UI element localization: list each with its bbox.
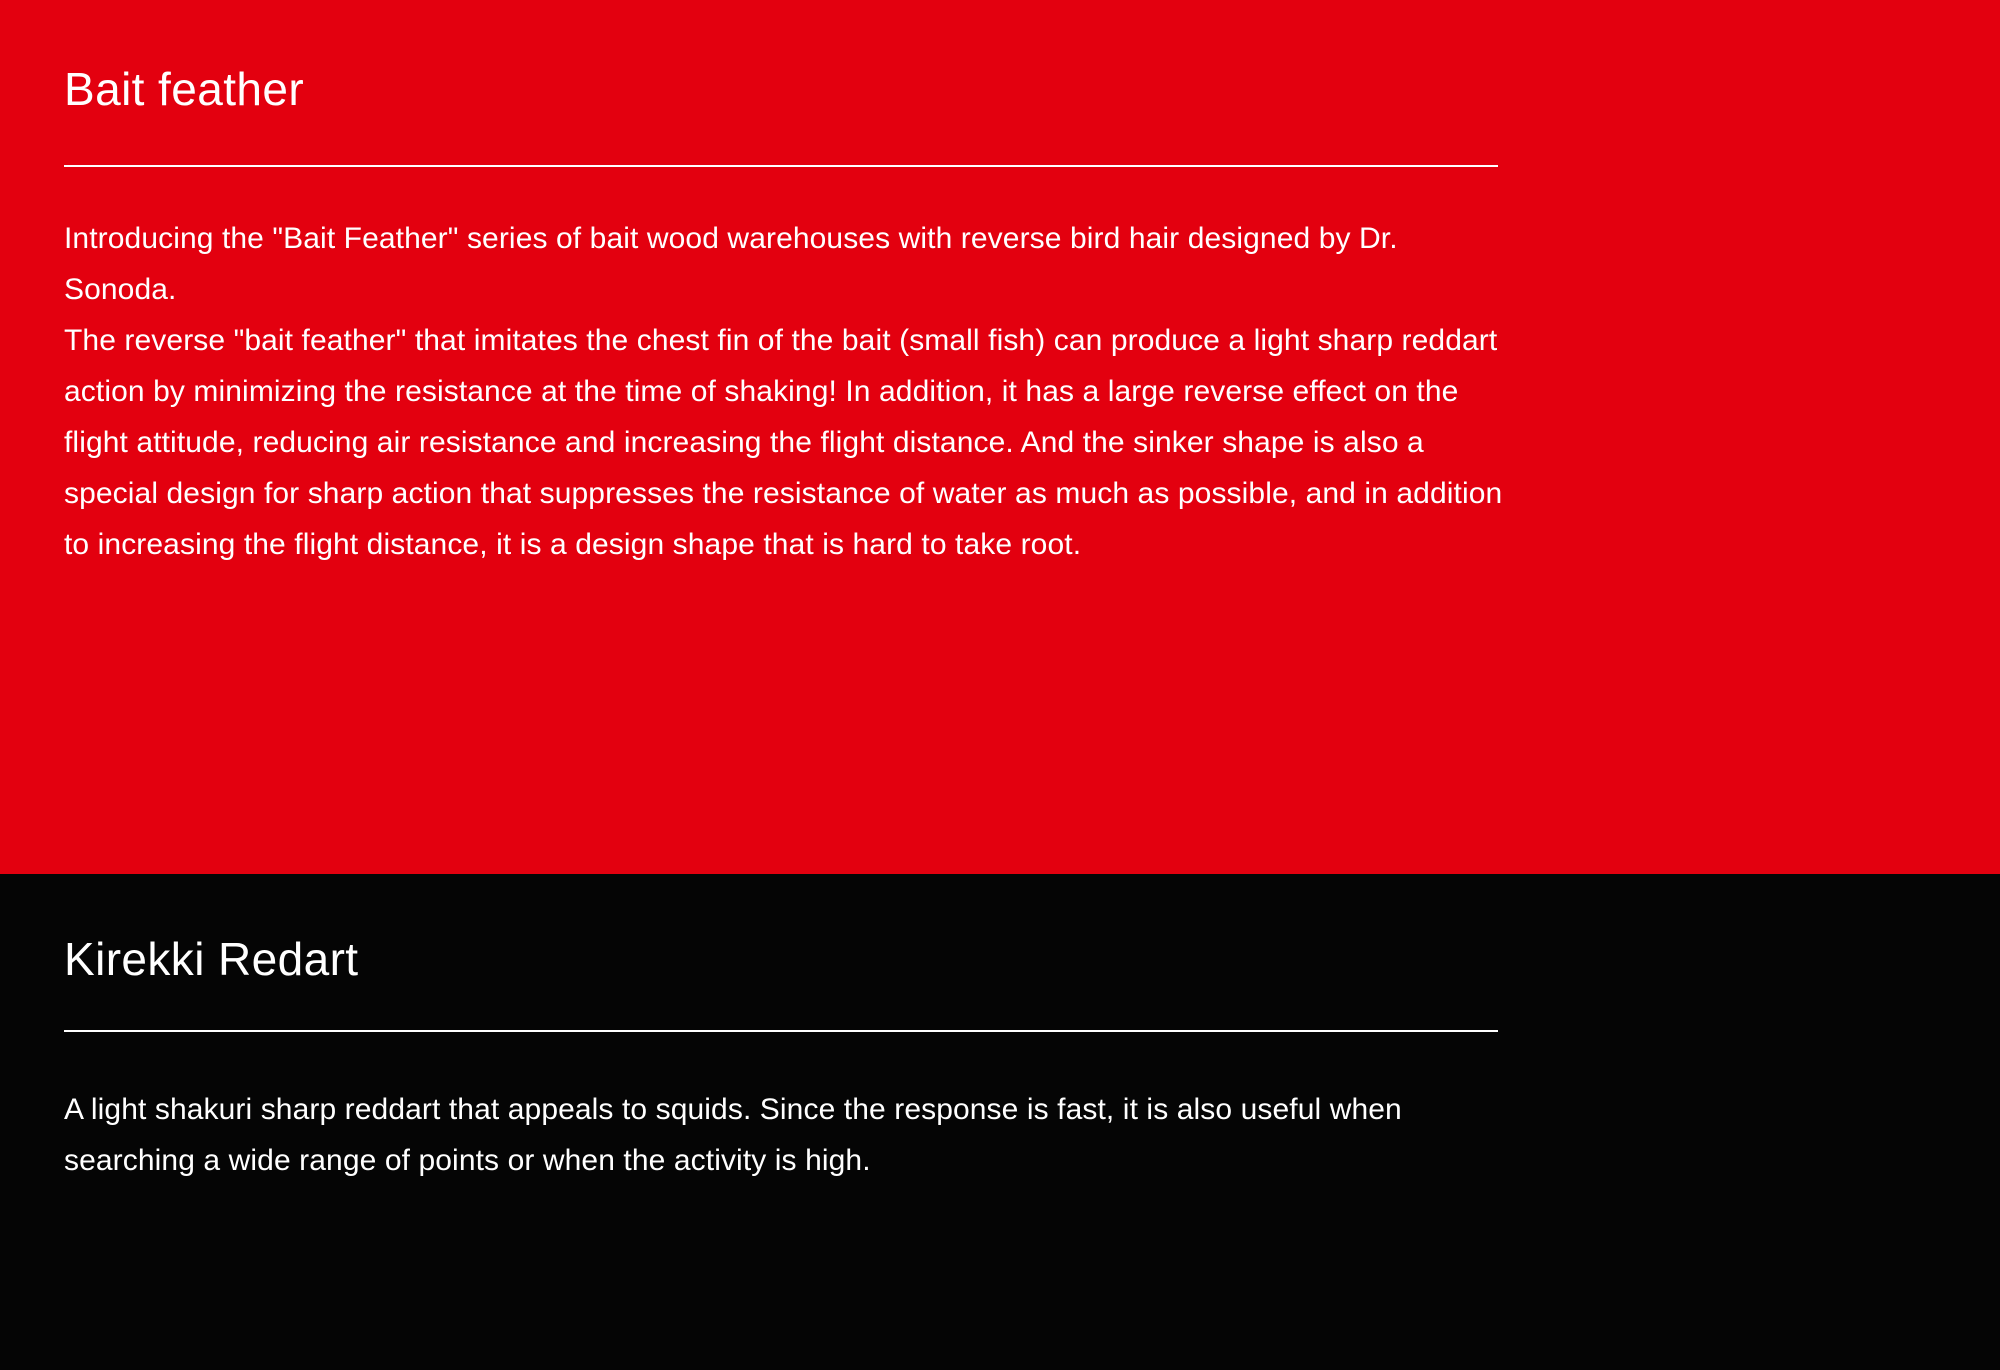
section-body-bait-feather: Introducing the "Bait Feather" series of…: [64, 167, 1504, 570]
section-title-bait-feather: Bait feather: [64, 0, 1936, 116]
product-description-page: Bait feather Introducing the "Bait Feath…: [0, 0, 2000, 1370]
section-body-kirekki-redart: A light shakuri sharp reddart that appea…: [64, 1032, 1504, 1186]
section-bait-feather: Bait feather Introducing the "Bait Feath…: [0, 0, 2000, 874]
section-kirekki-redart: Kirekki Redart A light shakuri sharp red…: [0, 874, 2000, 1370]
section-title-kirekki-redart: Kirekki Redart: [64, 874, 1936, 986]
